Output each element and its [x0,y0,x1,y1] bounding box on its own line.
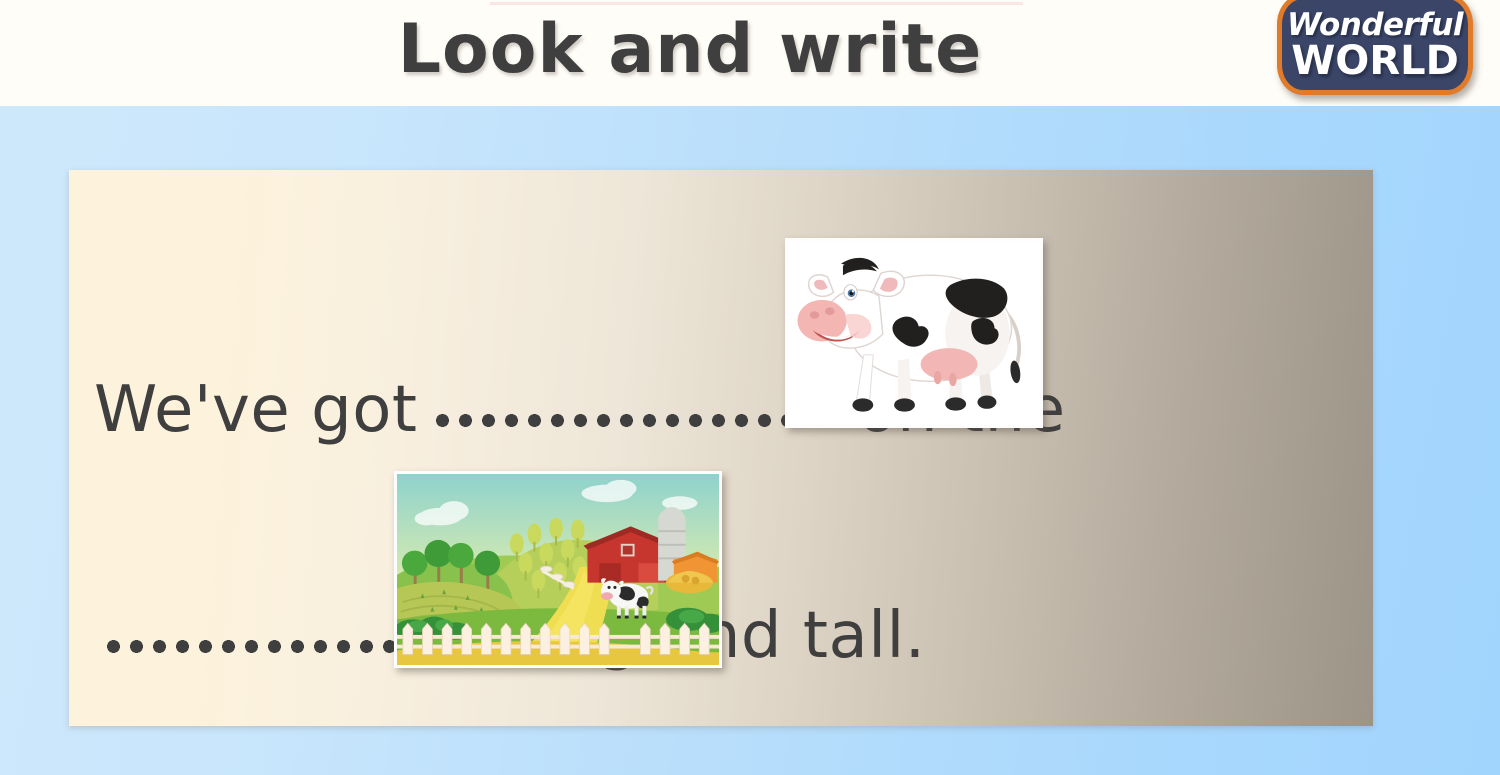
cow-illustration [790,243,1038,423]
cow-picture[interactable] [785,238,1043,428]
slide-canvas: Look and write Wonderful WORLD We've got… [0,0,1500,775]
farm-illustration [397,474,719,665]
farm-picture[interactable] [394,471,722,668]
answer-blank-2[interactable] [102,639,407,653]
header-band: Look and write [0,0,1500,106]
answer-blank-1[interactable] [431,413,843,427]
logo-line-wonderful: Wonderful [1287,10,1463,40]
logo-line-world: WORLD [1291,41,1459,81]
header-hairline-divider [490,2,1023,5]
sentence-prefix-weve-got: We've got [94,378,417,442]
wonderful-world-logo: Wonderful WORLD [1277,0,1473,95]
page-title: Look and write [0,16,1380,84]
